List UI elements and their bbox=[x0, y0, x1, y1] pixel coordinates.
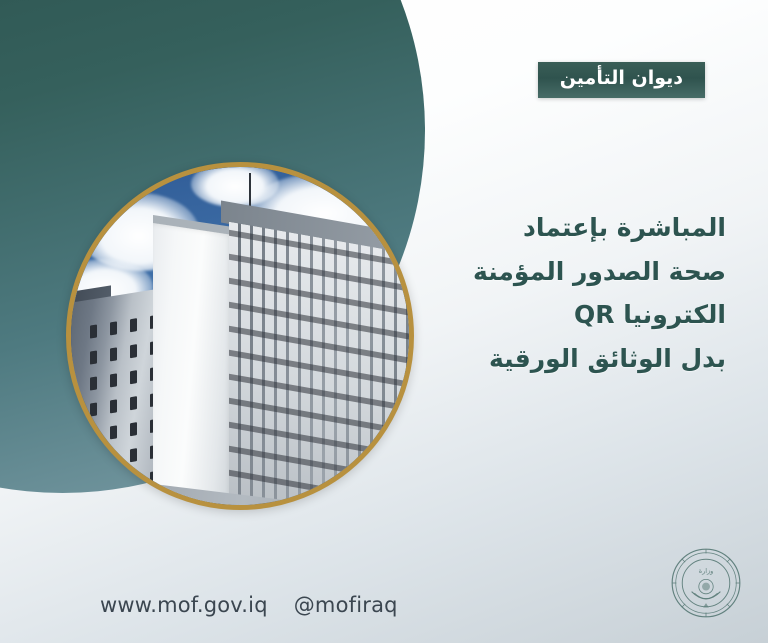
poster-canvas: مبنى وزارة المالية ديوان التأمين المباشر… bbox=[0, 0, 768, 643]
tower-window bbox=[90, 350, 97, 364]
facade-fin bbox=[253, 226, 262, 505]
tower-window bbox=[90, 376, 97, 390]
tower-window bbox=[90, 480, 97, 494]
tower-window bbox=[110, 399, 117, 413]
tower-window bbox=[130, 396, 137, 410]
social-handle-link[interactable]: @mofiraq bbox=[294, 593, 398, 617]
building-white-slab bbox=[153, 223, 233, 505]
badge-label: ديوان التأمين bbox=[560, 67, 683, 89]
building-grid-facade bbox=[229, 222, 409, 505]
building-photo: مبنى وزارة المالية bbox=[71, 167, 409, 505]
headline-line-3: الكترونيا QR bbox=[386, 293, 726, 337]
facade-fin bbox=[277, 230, 286, 505]
website-link[interactable]: www.mof.gov.iq bbox=[100, 593, 268, 617]
tower-window bbox=[90, 454, 97, 468]
facade-fin bbox=[229, 222, 238, 505]
headline-line-2: صحة الصدور المؤمنة bbox=[386, 250, 726, 294]
building-photo-circle: مبنى وزارة المالية bbox=[66, 162, 414, 510]
insurance-diwan-badge: ديوان التأمين bbox=[538, 62, 705, 98]
tower-window bbox=[130, 344, 137, 358]
tower-window bbox=[130, 448, 137, 462]
ministry-of-finance-seal: وزارة bbox=[670, 547, 742, 619]
facade-fin bbox=[265, 228, 274, 505]
tower-window bbox=[90, 428, 97, 442]
svg-text:وزارة: وزارة bbox=[699, 567, 714, 575]
headline-block: المباشرة بإعتماد صحة الصدور المؤمنة الكت… bbox=[386, 206, 726, 380]
tower-window bbox=[90, 402, 97, 416]
tower-window bbox=[130, 370, 137, 384]
headline-line-1: المباشرة بإعتماد bbox=[386, 206, 726, 250]
facade-fin bbox=[241, 224, 250, 505]
tower-window bbox=[130, 318, 137, 332]
tower-window bbox=[110, 347, 117, 361]
tower-window bbox=[110, 321, 117, 335]
headline-line-4: بدل الوثائق الورقية bbox=[386, 337, 726, 381]
tower-window bbox=[90, 324, 97, 338]
tower-window bbox=[110, 425, 117, 439]
facade-fin bbox=[289, 232, 298, 505]
tower-window bbox=[130, 422, 137, 436]
footer-links: www.mof.gov.iq @mofiraq bbox=[100, 593, 398, 617]
tower-window bbox=[110, 373, 117, 387]
tower-window bbox=[110, 451, 117, 465]
